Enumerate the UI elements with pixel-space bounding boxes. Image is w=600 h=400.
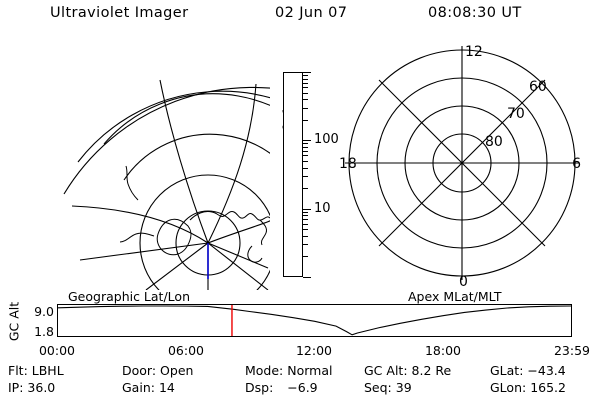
status-glat: GLat: −43.4 xyxy=(490,363,566,378)
time-axis: 00:0006:0012:0018:0023:59 xyxy=(0,343,600,359)
status-mode-label: Mode: xyxy=(245,363,283,378)
colorbar-tick xyxy=(303,188,308,189)
status-glon-value: 165.2 xyxy=(530,380,566,395)
time-axis-tick-4: 23:59 xyxy=(554,343,590,358)
status-ip-value: 36.0 xyxy=(27,380,55,395)
status-glat-label: GLat: xyxy=(490,363,523,378)
status-door-value: Open xyxy=(160,363,193,378)
status-gain-value: 14 xyxy=(159,380,175,395)
status-readout: Flt: LBHL IP: 36.0 Door: Open Gain: 14 M… xyxy=(0,363,600,399)
colorbar-tick xyxy=(303,79,308,80)
mlt-label-12: 12 xyxy=(465,44,483,60)
timeseries-ytick-top: 9.0 xyxy=(22,304,54,319)
colorbar-tick xyxy=(303,229,308,230)
status-mode-value: Normal xyxy=(287,363,332,378)
status-seq-value: 39 xyxy=(396,380,412,395)
mlt-label-0: 0 xyxy=(459,274,468,290)
observation-date: 02 Jun 07 xyxy=(275,5,347,21)
colorbar-ticks xyxy=(303,72,311,277)
colorbar-tick xyxy=(303,236,308,237)
colorbar-tick xyxy=(303,87,308,88)
colorbar-tick xyxy=(303,83,308,84)
colorbar-tick xyxy=(303,161,308,162)
status-filter-label: Flt: xyxy=(8,363,28,378)
colorbar-tick xyxy=(303,256,308,257)
timeseries-canvas xyxy=(58,305,571,336)
colorbar-tick xyxy=(303,219,308,220)
time-axis-tick-0: 00:00 xyxy=(39,343,75,358)
status-door: Door: Open xyxy=(122,363,193,378)
timeseries-y-axis-label: GC Alt xyxy=(7,297,22,347)
time-axis-tick-3: 18:00 xyxy=(425,343,461,358)
gc-altitude-curve xyxy=(58,306,571,335)
mlat-label-80: 80 xyxy=(485,134,503,150)
geographic-latitude-rings xyxy=(64,87,270,290)
status-gc-alt: GC Alt: 8.2 Re xyxy=(364,363,451,378)
colorbar-tick xyxy=(303,244,308,245)
observation-time: 08:08:30 UT xyxy=(428,5,522,21)
ultraviolet-imager-window: Ultraviolet Imager 02 Jun 07 08:08:30 UT xyxy=(0,0,600,400)
colorbar-tick xyxy=(303,143,308,144)
status-gc-alt-value: 8.2 Re xyxy=(412,363,452,378)
colorbar-gradient[interactable] xyxy=(283,72,303,277)
status-filter-value: LBHL xyxy=(32,363,64,378)
status-dsp-value: −6.9 xyxy=(287,380,317,395)
apex-plot-canvas: 12 6 0 18 60 70 80 xyxy=(335,40,590,290)
colorbar-tick xyxy=(303,168,308,169)
apex-plot-labels: 12 6 0 18 60 70 80 xyxy=(339,44,581,290)
colorbar-tick xyxy=(303,108,308,109)
timeseries-ytick-bottom: 1.8 xyxy=(22,324,54,339)
status-gain: Gain: 14 xyxy=(122,380,175,395)
geographic-polar-plot[interactable] xyxy=(20,40,270,290)
colorbar-tick xyxy=(303,277,311,278)
mlat-label-70: 70 xyxy=(507,106,525,122)
colorbar-tick xyxy=(303,75,308,76)
colorbar-tick xyxy=(303,93,308,94)
timeseries-plot-area[interactable] xyxy=(57,304,572,337)
colorbar-tick xyxy=(303,209,311,210)
colorbar-tick-label-10: 10 xyxy=(314,202,331,215)
colorbar-tick xyxy=(303,215,308,216)
time-axis-tick-2: 12:00 xyxy=(296,343,332,358)
status-gc-alt-label: GC Alt: xyxy=(364,363,408,378)
status-glon-label: GLon: xyxy=(490,380,526,395)
status-ip: IP: 36.0 xyxy=(8,380,55,395)
colorbar-tick xyxy=(303,224,308,225)
status-glon: GLon: 165.2 xyxy=(490,380,566,395)
colorbar-tick xyxy=(303,120,308,121)
status-seq-label: Seq: xyxy=(364,380,392,395)
colorbar-tick xyxy=(303,140,311,141)
header-bar: Ultraviolet Imager 02 Jun 07 08:08:30 UT xyxy=(0,5,600,29)
time-axis-tick-1: 06:00 xyxy=(168,343,204,358)
status-glat-value: −43.4 xyxy=(527,363,565,378)
status-dsp-label: Dsp: xyxy=(245,380,273,395)
altitude-timeseries-panel[interactable]: GC Alt 9.0 1.8 xyxy=(0,300,600,340)
colorbar-tick xyxy=(303,151,308,152)
mlat-label-60: 60 xyxy=(529,79,547,95)
apex-polar-plot[interactable]: 12 6 0 18 60 70 80 xyxy=(335,40,590,290)
colorbar-tick xyxy=(303,212,308,213)
colorbar-tick xyxy=(303,99,308,100)
geographic-longitude-lines xyxy=(72,80,270,290)
status-ip-label: IP: xyxy=(8,380,23,395)
status-seq: Seq: 39 xyxy=(364,380,412,395)
colorbar-tick xyxy=(303,72,311,73)
status-door-label: Door: xyxy=(122,363,156,378)
mlt-label-18: 18 xyxy=(339,156,357,172)
status-filter: Flt: LBHL xyxy=(8,363,64,378)
status-mode: Mode: Normal xyxy=(245,363,333,378)
colorbar: photon cm-2s-1 100 10 xyxy=(262,55,342,290)
colorbar-tick xyxy=(303,176,308,177)
status-gain-label: Gain: xyxy=(122,380,155,395)
mlt-label-6: 6 xyxy=(572,156,581,172)
status-dsp: Dsp: −6.9 xyxy=(245,380,318,395)
colorbar-tick xyxy=(303,147,308,148)
instrument-title: Ultraviolet Imager xyxy=(50,5,188,21)
geographic-plot-canvas xyxy=(20,40,270,290)
colorbar-tick xyxy=(303,155,308,156)
